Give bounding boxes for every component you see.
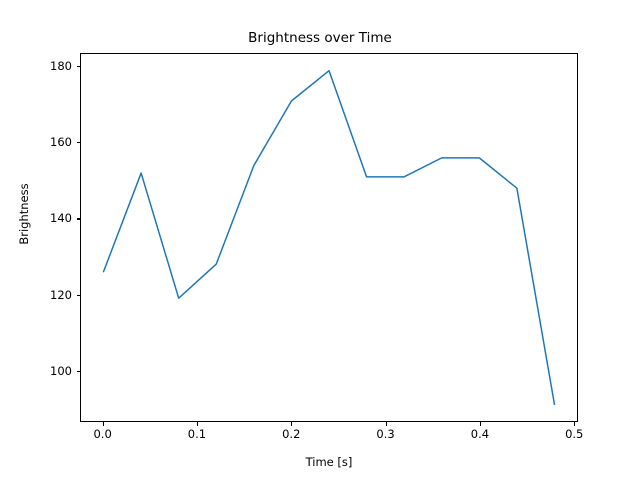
y-tick-label: 120 xyxy=(32,288,72,302)
brightness-line xyxy=(104,71,555,405)
x-tick-label: 0.0 xyxy=(73,427,133,441)
x-tick-mark xyxy=(574,422,575,426)
x-tick-label: 0.5 xyxy=(544,427,604,441)
x-tick-label: 0.4 xyxy=(450,427,510,441)
chart-title: Brightness over Time xyxy=(0,30,640,46)
x-tick-label: 0.1 xyxy=(167,427,227,441)
line-series-svg xyxy=(81,54,577,421)
x-tick-label: 0.3 xyxy=(356,427,416,441)
figure-canvas: Brightness over Time Brightness 10012014… xyxy=(0,0,640,480)
y-axis-tick-labels: 100120140160180 xyxy=(28,53,72,422)
x-axis-tick-marks xyxy=(80,422,578,426)
y-tick-label: 180 xyxy=(32,59,72,73)
x-tick-mark xyxy=(103,422,104,426)
x-axis-title: Time [s] xyxy=(80,455,578,469)
x-tick-mark xyxy=(480,422,481,426)
y-tick-label: 100 xyxy=(32,364,72,378)
x-axis-tick-labels: 0.00.10.20.30.40.5 xyxy=(80,427,578,443)
x-tick-label: 0.2 xyxy=(261,427,321,441)
x-tick-mark xyxy=(386,422,387,426)
x-tick-mark xyxy=(197,422,198,426)
plot-area xyxy=(80,53,578,422)
x-tick-mark xyxy=(291,422,292,426)
y-tick-label: 160 xyxy=(32,135,72,149)
y-tick-label: 140 xyxy=(32,211,72,225)
